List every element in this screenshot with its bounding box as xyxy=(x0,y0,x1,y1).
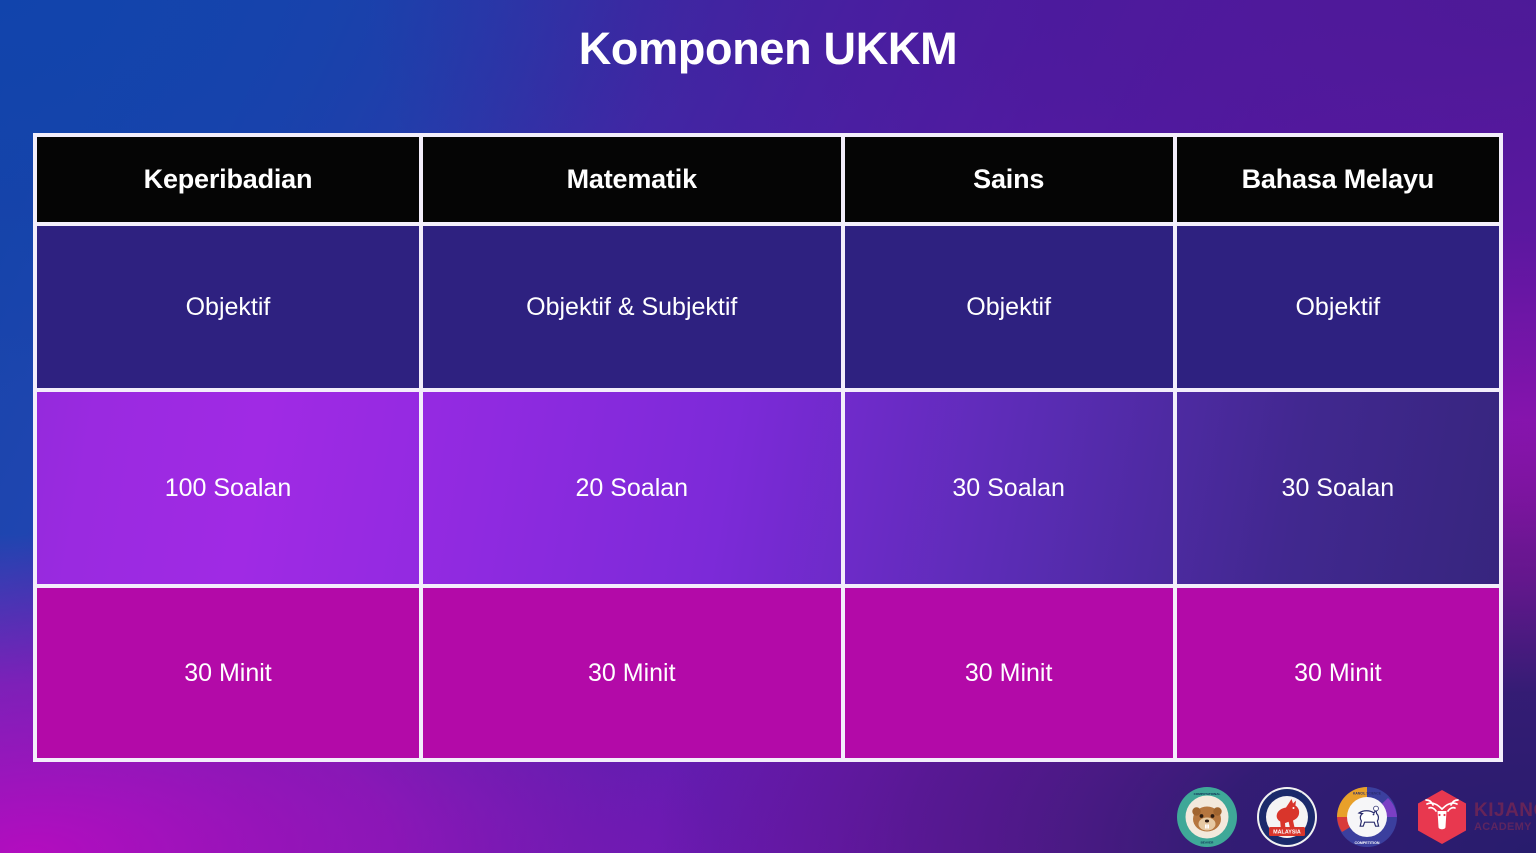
table-header-row: Keperibadian Matematik Sains Bahasa Mela… xyxy=(37,137,1499,222)
table-cell: Objektif xyxy=(37,226,423,388)
cell-value: Objektif & Subjektif xyxy=(526,293,737,322)
svg-text:COMPETITION: COMPETITION xyxy=(1355,841,1380,845)
cell-value: 30 Minit xyxy=(588,659,676,688)
table-row-format: Objektif Objektif & Subjektif Objektif O… xyxy=(37,222,1499,392)
cell-value: 30 Soalan xyxy=(1282,474,1395,503)
cell-value: 100 Soalan xyxy=(165,474,292,503)
kangaroo-math-malaysia-logo: MALAYSIA KANGAROO MATH xyxy=(1256,786,1318,848)
cell-value: 20 Soalan xyxy=(575,474,688,503)
column-header-matematik: Matematik xyxy=(423,137,845,222)
cell-value: 30 Minit xyxy=(965,659,1053,688)
column-header-bahasa-melayu: Bahasa Melayu xyxy=(1177,137,1499,222)
column-header-label: Matematik xyxy=(567,164,697,195)
cell-value: 30 Minit xyxy=(184,659,272,688)
kijang-wordmark-line1: KIJANG xyxy=(1474,801,1536,820)
table-cell: 20 Soalan xyxy=(423,392,845,584)
ukkm-component-table: Keperibadian Matematik Sains Bahasa Mela… xyxy=(33,133,1503,762)
svg-text:COMPUTATIONAL: COMPUTATIONAL xyxy=(1194,792,1221,796)
kijang-wordmark: KIJANG ACADEMY xyxy=(1474,801,1536,833)
partner-logo-bar: COMPUTATIONAL BEAVER MALAYSIA KANGAROO M… xyxy=(1176,784,1506,850)
table-cell: 30 Soalan xyxy=(845,392,1177,584)
table-row-questions: 100 Soalan 20 Soalan 30 Soalan 30 Soalan xyxy=(37,392,1499,588)
table-cell: 100 Soalan xyxy=(37,392,423,584)
table-cell: 30 Minit xyxy=(423,588,845,758)
svg-text:KANCIL SCIENCE: KANCIL SCIENCE xyxy=(1353,791,1382,795)
page-title: Komponen UKKM xyxy=(0,22,1536,76)
table-cell: Objektif xyxy=(1177,226,1499,388)
kancil-science-competition-logo: KANCIL SCIENCE COMPETITION xyxy=(1336,786,1398,848)
kijang-deer-icon xyxy=(1416,789,1468,845)
cell-value: 30 Soalan xyxy=(952,474,1065,503)
cell-value: Objektif xyxy=(186,293,271,322)
slide-stage: Komponen UKKM Keperibadian Matematik Sai… xyxy=(0,0,1536,853)
column-header-label: Sains xyxy=(973,164,1044,195)
table-row-duration: 30 Minit 30 Minit 30 Minit 30 Minit xyxy=(37,588,1499,758)
cell-value: Objektif xyxy=(1295,293,1380,322)
table-cell: 30 Soalan xyxy=(1177,392,1499,584)
svg-text:MALAYSIA: MALAYSIA xyxy=(1273,830,1301,836)
column-header-keperibadian: Keperibadian xyxy=(37,137,423,222)
column-header-label: Keperibadian xyxy=(144,164,313,195)
table-cell: Objektif xyxy=(845,226,1177,388)
cell-value: Objektif xyxy=(966,293,1051,322)
svg-text:KANGAROO MATH: KANGAROO MATH xyxy=(1272,792,1303,796)
column-header-label: Bahasa Melayu xyxy=(1242,164,1435,195)
table-cell: 30 Minit xyxy=(37,588,423,758)
column-header-sains: Sains xyxy=(845,137,1177,222)
svg-text:BEAVER: BEAVER xyxy=(1201,841,1214,845)
table-cell: Objektif & Subjektif xyxy=(423,226,845,388)
kijang-logo: KIJANG ACADEMY xyxy=(1416,789,1536,845)
cell-value: 30 Minit xyxy=(1294,659,1382,688)
beaver-computational-thinking-competition-logo: COMPUTATIONAL BEAVER xyxy=(1176,786,1238,848)
table-cell: 30 Minit xyxy=(845,588,1177,758)
table-cell: 30 Minit xyxy=(1177,588,1499,758)
kijang-wordmark-line2: ACADEMY xyxy=(1474,822,1536,833)
